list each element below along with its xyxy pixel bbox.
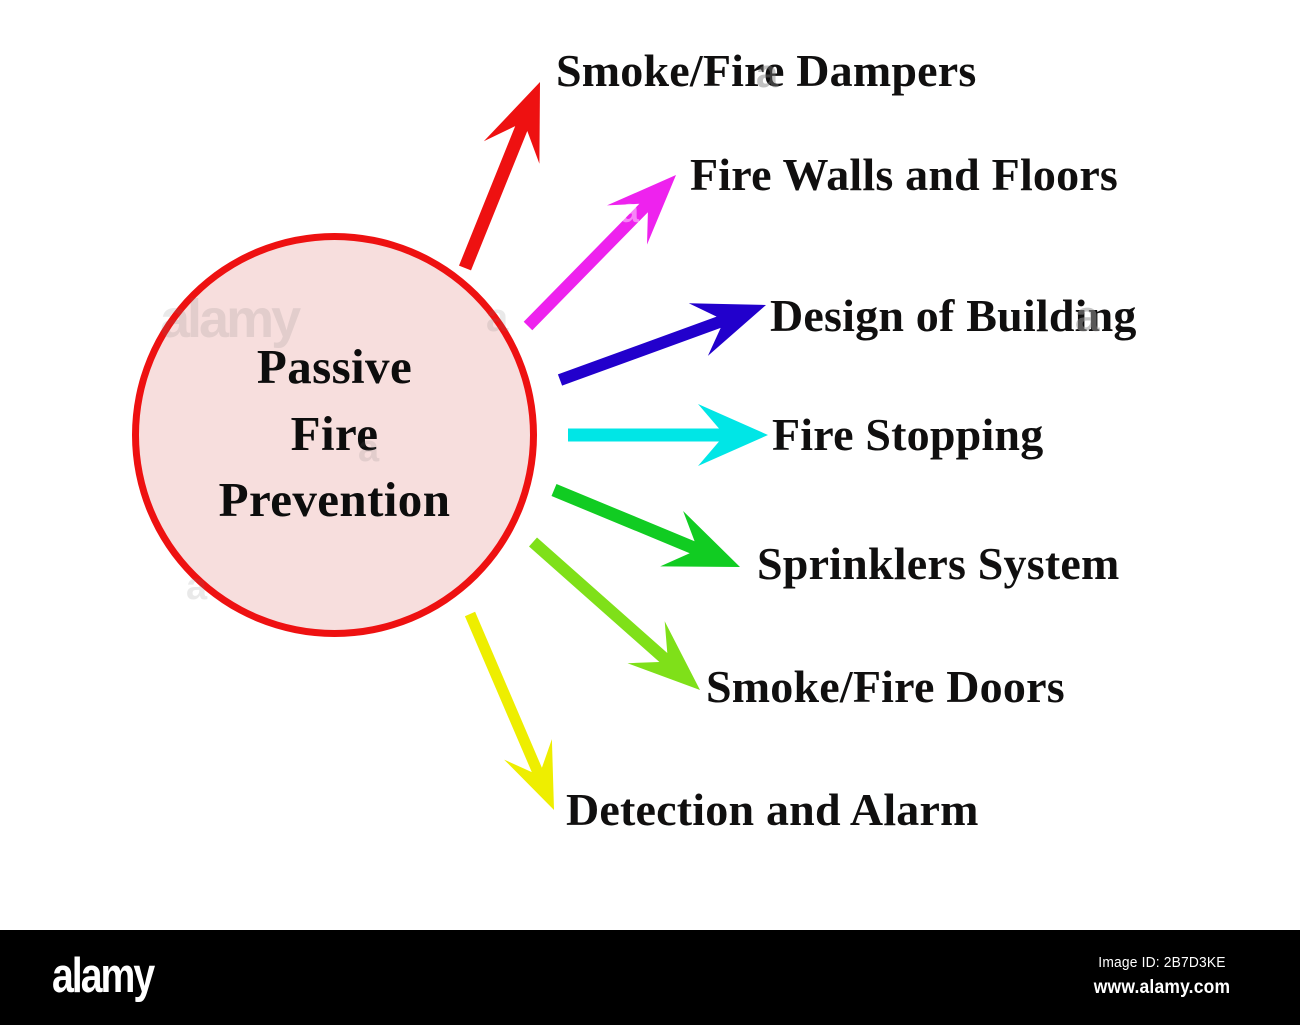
center-label-line-2: Fire xyxy=(219,401,451,468)
diagram-canvas: Passive Fire Prevention Smoke/Fire Dampe… xyxy=(0,0,1300,1025)
branch-label-4[interactable]: Sprinklers System xyxy=(757,541,1119,587)
arrow-fire-stopping xyxy=(568,404,768,466)
center-node-passive-fire-prevention[interactable]: Passive Fire Prevention xyxy=(132,233,537,637)
center-node-label: Passive Fire Prevention xyxy=(219,334,451,534)
arrow-fire-walls-and-floors xyxy=(524,175,676,330)
footer-url[interactable]: www.alamy.com xyxy=(1052,977,1273,999)
branch-label-1[interactable]: Fire Walls and Floors xyxy=(690,152,1118,198)
arrow-smoke-fire-dampers xyxy=(459,82,540,270)
branch-label-6[interactable]: Detection and Alarm xyxy=(566,787,979,833)
branch-label-5[interactable]: Smoke/Fire Doors xyxy=(706,664,1065,710)
diagram-area: Passive Fire Prevention Smoke/Fire Dampe… xyxy=(0,0,1300,930)
arrow-sprinklers-system xyxy=(552,484,741,567)
branch-label-2[interactable]: Design of Building xyxy=(770,293,1137,339)
footer-meta: Image ID: 2B7D3KE www.alamy.com xyxy=(1042,954,1282,999)
arrow-design-of-building xyxy=(558,303,766,385)
arrow-detection-and-alarm xyxy=(465,612,554,810)
footer-image-id: Image ID: 2B7D3KE xyxy=(1052,954,1273,971)
branch-label-3[interactable]: Fire Stopping xyxy=(772,412,1043,458)
alamy-logo: alamy xyxy=(52,952,153,1001)
center-label-line-3: Prevention xyxy=(219,467,451,534)
branch-label-0[interactable]: Smoke/Fire Dampers xyxy=(556,48,977,94)
alamy-footer-bar: alamy Image ID: 2B7D3KE www.alamy.com xyxy=(0,930,1300,1025)
center-label-line-1: Passive xyxy=(219,334,451,401)
